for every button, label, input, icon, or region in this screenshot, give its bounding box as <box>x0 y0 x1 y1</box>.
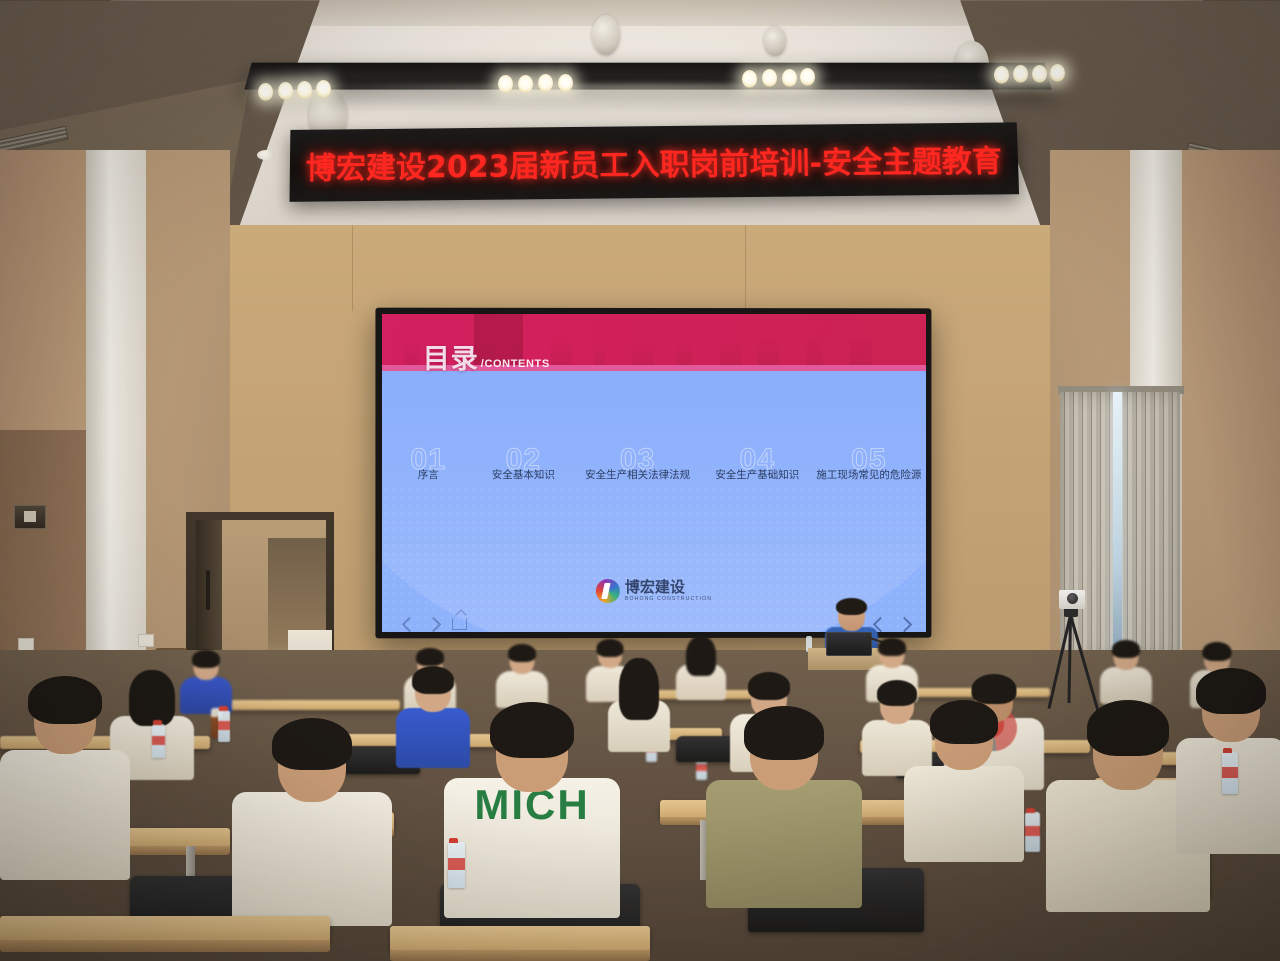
audience-hair <box>597 639 624 657</box>
slide-contents-list: 01 序言 02 安全基本知识 03 安全生产相关法律法规 04 安全生产基础知… <box>382 467 926 482</box>
water-bottle <box>152 724 165 758</box>
audience-member <box>904 700 1024 850</box>
wall-seam <box>745 225 746 315</box>
chevron-right-icon[interactable] <box>425 616 441 632</box>
audience-torso <box>0 750 130 880</box>
chevron-left-icon[interactable] <box>401 616 417 632</box>
ceiling-spotlight <box>762 69 777 87</box>
wall-outlet <box>138 634 154 647</box>
share-icon[interactable] <box>452 618 467 630</box>
audience-hair <box>930 700 998 744</box>
tripod-head <box>1064 608 1078 617</box>
audience-member <box>232 718 392 918</box>
audience-member <box>1100 640 1152 702</box>
presentation-screen[interactable]: 目录 /CONTENTS 01 序言 02 安全基本知识 03 安全生产相关法律… <box>382 314 926 632</box>
contents-item[interactable]: 03 安全生产相关法律法规 <box>572 467 703 482</box>
led-banner: 博宏建设2023届新员工入职岗前培训-安全主题教育 <box>289 122 1019 201</box>
ceiling-spotlight <box>1013 65 1028 83</box>
presenter-hair <box>836 598 867 615</box>
company-name-en: BOHONG CONSTRUCTION <box>625 597 712 602</box>
audience-member <box>0 676 130 874</box>
ceiling-spotlight <box>297 81 312 99</box>
contents-item-label: 安全生产基础知识 <box>703 467 812 482</box>
column-left <box>86 150 146 730</box>
ceiling-speaker <box>592 15 620 55</box>
contents-item-label: 序言 <box>382 467 474 482</box>
contents-item-label: 安全基本知识 <box>474 467 572 482</box>
audience-member <box>676 636 726 698</box>
chevron-right-icon[interactable] <box>896 616 912 632</box>
meeting-room-photo: 博宏建设2023届新员工入职岗前培训-安全主题教育 目录 /CONTENTS <box>0 0 1280 961</box>
audience-hair <box>744 706 824 760</box>
audience-hair <box>129 670 175 726</box>
ceiling-spotlight <box>498 75 513 93</box>
desk <box>230 700 400 710</box>
audience-hair <box>412 666 454 694</box>
audience-hair <box>1112 640 1140 658</box>
audience-torso <box>232 792 392 926</box>
ceiling-speaker <box>764 26 786 56</box>
audience-hair <box>619 658 659 720</box>
water-bottle <box>1222 752 1238 794</box>
audience-hair <box>192 650 220 668</box>
desk-edge <box>0 940 330 952</box>
audience-member: MICH <box>444 700 620 912</box>
company-name-cn: 博宏建设 <box>625 580 712 595</box>
audience-hair <box>1196 668 1266 714</box>
audience-torso <box>904 766 1024 862</box>
audience-hair <box>28 676 102 724</box>
audience-hair <box>878 638 906 656</box>
water-bottle <box>1025 812 1040 852</box>
audience-hair <box>416 648 444 666</box>
slide-title-en: /CONTENTS <box>481 358 550 373</box>
desk-edge <box>390 950 650 961</box>
desk <box>390 926 650 952</box>
audience-hair <box>686 636 716 676</box>
slide-company-logo: 博宏建设 BOHONG CONSTRUCTION <box>596 579 712 603</box>
audience-member <box>496 644 548 706</box>
slide-title: 目录 /CONTENTS <box>423 346 550 373</box>
ceiling-spotlight <box>538 74 553 92</box>
water-bottle <box>218 710 230 742</box>
blinds-daylight-gap <box>1113 392 1122 660</box>
audience-torso <box>706 780 862 908</box>
audience-hair <box>272 718 352 770</box>
audience-hair <box>490 702 574 758</box>
ceiling-spotlight <box>316 80 331 98</box>
audience-torso <box>1100 667 1152 704</box>
contents-item-label: 安全生产相关法律法规 <box>572 467 703 482</box>
slide-nav-left[interactable] <box>404 618 467 630</box>
contents-item[interactable]: 04 安全生产基础知识 <box>703 467 812 482</box>
water-bottle <box>448 842 465 888</box>
audience-hair <box>1203 642 1232 661</box>
ceiling-spotlight <box>994 66 1009 84</box>
ceiling-light-glow <box>238 84 1058 110</box>
led-banner-text: 博宏建设2023届新员工入职岗前培训-安全主题教育 <box>306 136 1003 187</box>
contents-item[interactable]: 01 序言 <box>382 467 474 482</box>
wall-seam <box>352 225 353 311</box>
smoke-detector <box>257 150 275 160</box>
wall-sign <box>14 505 46 529</box>
ceiling-spotlight <box>558 74 573 92</box>
ceiling-spotlight <box>1032 65 1047 83</box>
company-logo-icon <box>596 579 620 603</box>
audience-hair <box>748 672 790 700</box>
ceiling-spotlight <box>782 69 797 87</box>
ceiling-spotlight <box>278 82 293 100</box>
slide-title-cn: 目录 <box>423 346 479 373</box>
ceiling-spotlight <box>742 70 757 88</box>
contents-item-label: 施工现场常见的危险源 <box>812 467 926 482</box>
desk <box>0 916 330 942</box>
contents-item[interactable]: 05 施工现场常见的危险源 <box>812 467 926 482</box>
ceiling-spotlight <box>258 83 273 101</box>
door-handle[interactable] <box>206 570 210 610</box>
audience-member <box>706 706 862 896</box>
audience-hair <box>508 644 536 662</box>
contents-item[interactable]: 02 安全基本知识 <box>474 467 572 482</box>
audience-hair <box>1087 700 1169 756</box>
camera-lens-icon <box>1067 593 1078 604</box>
ceiling-spotlight <box>800 68 815 86</box>
ceiling-spotlight <box>518 75 533 93</box>
ceiling-spotlight <box>1050 64 1065 82</box>
